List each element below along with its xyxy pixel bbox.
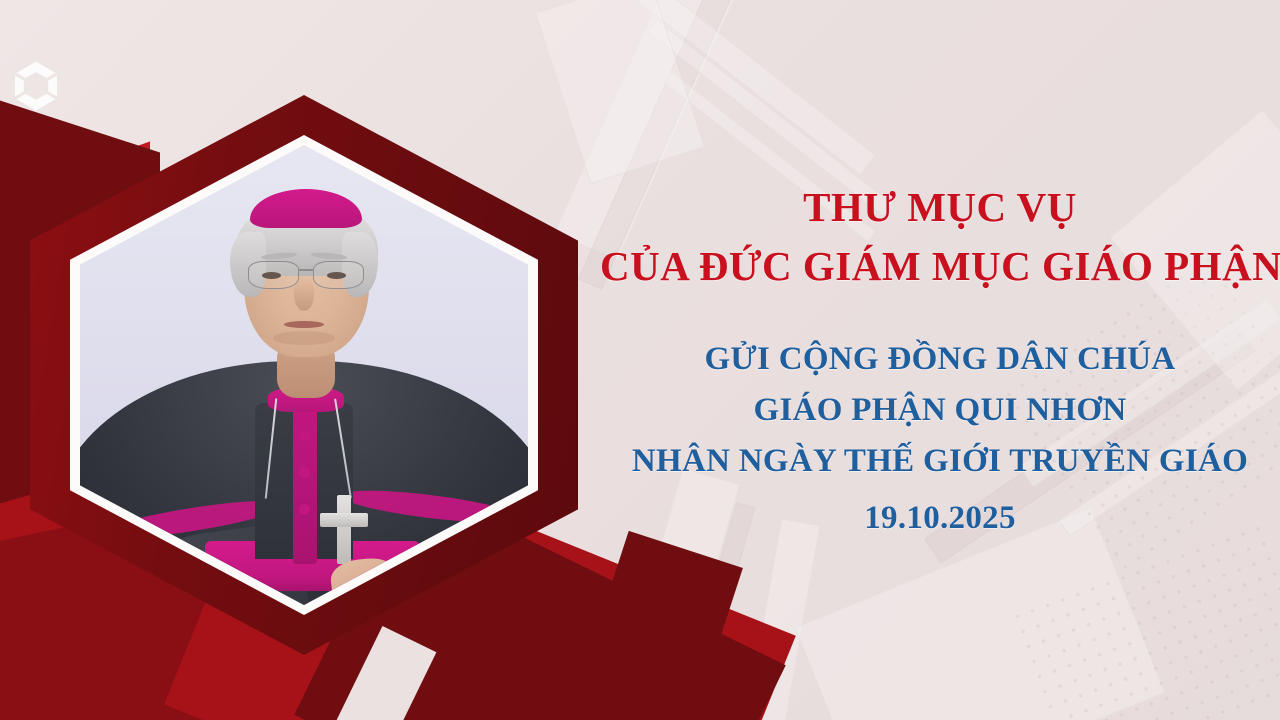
- text-block: THƯ MỤC VỤ CỦA ĐỨC GIÁM MỤC GIÁO PHẬN GỬ…: [600, 0, 1280, 720]
- cassock-button: [299, 504, 310, 515]
- cassock-button: [299, 430, 310, 441]
- mouth: [284, 321, 324, 328]
- subheading-line-3: NHÂN NGÀY THẾ GIỚI TRUYỀN GIÁO: [600, 443, 1280, 480]
- pectoral-cross-vertical: [337, 495, 351, 564]
- portrait-frame: [30, 95, 578, 655]
- subheading-line-2: GIÁO PHẬN QUI NHƠN: [600, 392, 1280, 429]
- zucchetto: [250, 189, 362, 228]
- poster-canvas: THƯ MỤC VỤ CỦA ĐỨC GIÁM MỤC GIÁO PHẬN GỬ…: [0, 0, 1280, 720]
- nose: [294, 278, 314, 310]
- subheading-line-1: GỬI CỘNG ĐỒNG DÂN CHÚA: [600, 341, 1280, 378]
- heading-line-2: CỦA ĐỨC GIÁM MỤC GIÁO PHẬN: [600, 242, 1280, 290]
- cassock-button: [299, 467, 310, 478]
- event-date: 19.10.2025: [600, 500, 1280, 537]
- pectoral-cross-horizontal: [320, 513, 367, 527]
- cassock-placket: [293, 398, 318, 564]
- heading-line-1: THƯ MỤC VỤ: [600, 183, 1280, 231]
